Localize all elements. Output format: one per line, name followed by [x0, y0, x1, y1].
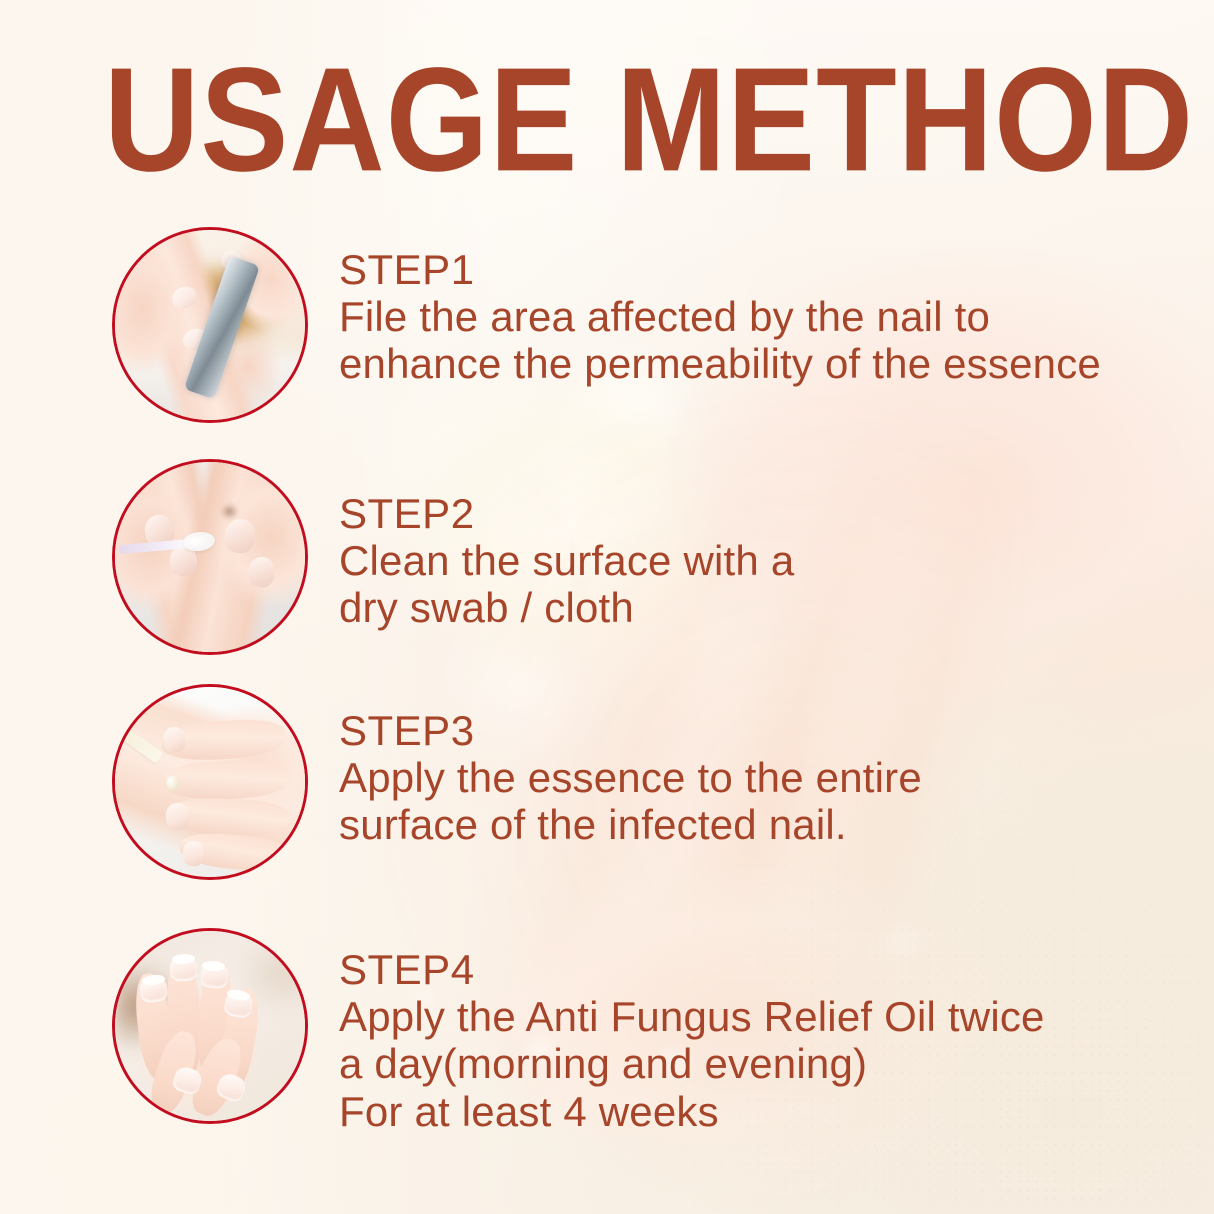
french-tip-2	[172, 953, 195, 964]
step-1-label: STEP1	[339, 246, 1101, 293]
step-1-line-2: enhance the permeability of the essence	[339, 340, 1101, 387]
step-1-line-1: File the area affected by the nail to	[339, 293, 1101, 340]
step-row-2: STEP2 Clean the surface with a dry swab …	[112, 459, 794, 655]
step-2-label: STEP2	[339, 490, 794, 537]
step-4-thumbnail	[112, 928, 308, 1124]
step-2-line-1: Clean the surface with a	[339, 537, 794, 584]
step-1-text: STEP1 File the area affected by the nail…	[339, 246, 1101, 388]
step-3-line-2: surface of the infected nail.	[339, 801, 922, 848]
step-4-line-1: Apply the Anti Fungus Relief Oil twice	[339, 993, 1045, 1040]
swab-photo-right-hand	[115, 462, 305, 652]
step-3-thumbnail	[112, 684, 308, 880]
step-row-3: STEP3 Apply the essence to the entire su…	[112, 684, 922, 880]
step-3-label: STEP3	[339, 707, 922, 754]
step-4-line-2: a day(morning and evening)	[339, 1040, 1045, 1087]
dropper-photo-nail-2	[166, 802, 190, 830]
swab-photo-shadow	[221, 504, 238, 519]
step-3-text: STEP3 Apply the essence to the entire su…	[339, 707, 922, 849]
step-row-4: STEP4 Apply the Anti Fungus Relief Oil t…	[112, 928, 1045, 1135]
step-3-line-1: Apply the essence to the entire	[339, 754, 922, 801]
usage-method-poster: USAGE METHOD STEP1 File the area affecte…	[0, 0, 1214, 1214]
step-2-text: STEP2 Clean the surface with a dry swab …	[339, 490, 794, 632]
dropper-photo-nail-3	[183, 840, 206, 866]
step-2-thumbnail	[112, 459, 308, 655]
step-4-line-3: For at least 4 weeks	[339, 1088, 1045, 1135]
step-1-thumbnail	[112, 227, 308, 423]
page-title: USAGE METHOD	[104, 46, 1194, 194]
step-4-text: STEP4 Apply the Anti Fungus Relief Oil t…	[339, 946, 1045, 1135]
step-row-1: STEP1 File the area affected by the nail…	[112, 227, 1101, 423]
step-4-label: STEP4	[339, 946, 1045, 993]
step-2-line-2: dry swab / cloth	[339, 584, 794, 631]
